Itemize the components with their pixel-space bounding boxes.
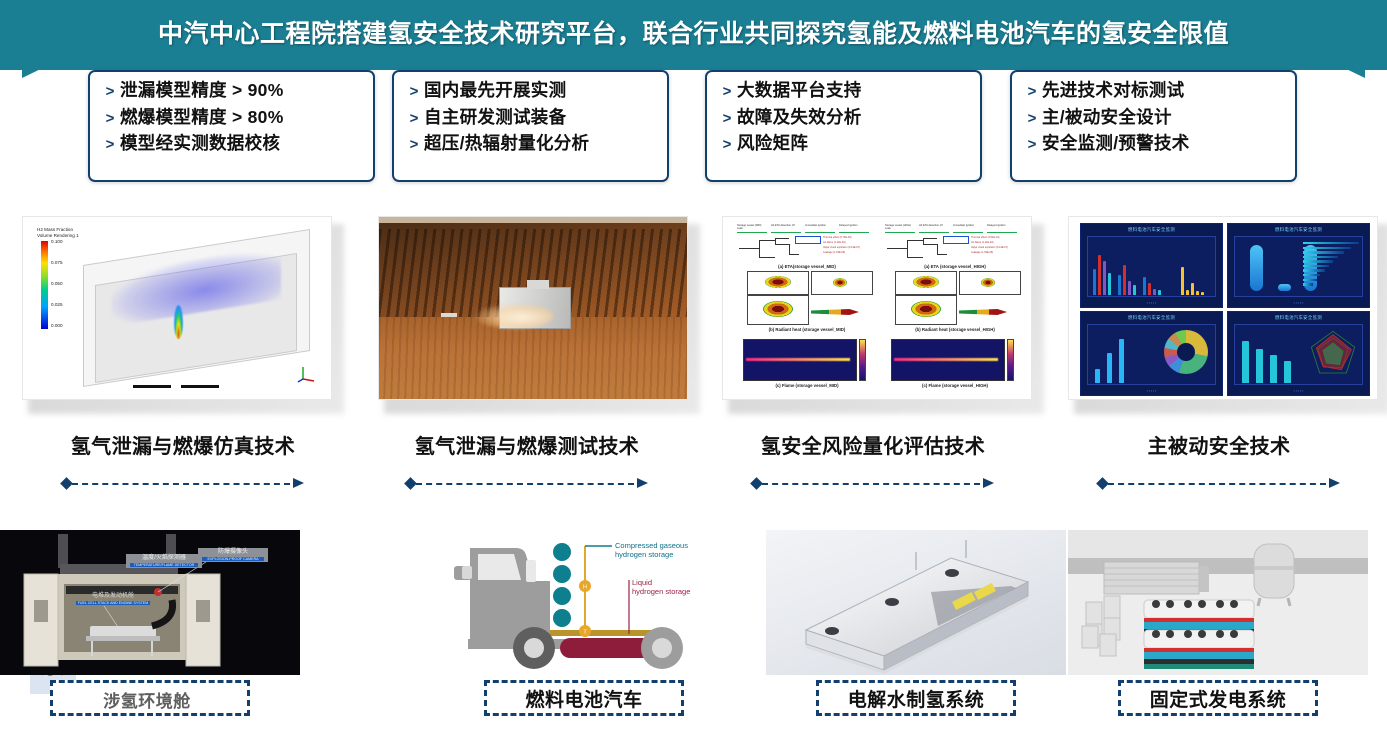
- bullet-label: 风险矩阵: [737, 134, 808, 154]
- annotation-flame-detector: 温度/火焰探测器TEMPERATURE/FLAME DETECTOR: [126, 554, 202, 568]
- eta-outcome: Vapor cloud explosion (6.14E-07): [823, 246, 860, 249]
- chevron-right-icon: >: [717, 137, 737, 152]
- enclosure-vent: [527, 280, 549, 289]
- bullet-label: 故障及失效分析: [737, 108, 862, 128]
- colorbar-tick: 0.000: [51, 323, 63, 328]
- dashboard-title: 燃料电池汽车安全监测: [1081, 315, 1222, 321]
- dashboard-title: 燃料电池汽车安全监测: [1081, 227, 1222, 233]
- scenario-label-ghost: 涉氢环境舱: [50, 684, 244, 714]
- bullet-label: 超压/热辐射量化分析: [424, 134, 589, 154]
- eta-col-header: Storage vessel (MID) Leak: [737, 225, 767, 233]
- scenario-label-stationary-power: 固定式发电系统: [1118, 680, 1318, 716]
- eta-outcome: Leakage (1.63E-06): [823, 251, 845, 254]
- heat-contour: [981, 278, 995, 287]
- eta-outcome: Jet flame (1.11E-04): [971, 241, 993, 244]
- eta-outcome: Leakage (1.63E-06): [971, 251, 993, 254]
- dashed-line: [72, 483, 290, 485]
- scenario-fuel-cell-vehicle[interactable]: H T Compressed gaseous hydrogen storage …: [434, 530, 734, 735]
- diamond-icon: [1096, 477, 1109, 490]
- eta-outcome: Thermal effect (6.72E-04): [823, 236, 851, 239]
- eta-col-header: Storage vessel (HIGH) Leak: [885, 225, 915, 233]
- arrow-head-icon: [293, 478, 304, 488]
- bullet-item: > 自主研发测试装备: [404, 108, 659, 128]
- safety-card[interactable]: > 先进技术对标测试 > 主/被动安全设计 > 安全监测/预警技术: [1010, 70, 1297, 182]
- risk-subcaption: (b) Radiant heat (storage vessel_HIGH): [883, 327, 1027, 332]
- colorbar-tick: 0.100: [51, 239, 63, 244]
- container-scene: [766, 530, 1066, 675]
- dashed-line: [762, 483, 980, 485]
- chevron-right-icon: >: [1022, 111, 1042, 126]
- heat-flux-colorbar: [959, 309, 1007, 315]
- diamond-icon: [750, 477, 763, 490]
- chevron-right-icon: >: [404, 111, 424, 126]
- dashboard-title: 燃料电池汽车安全监测: [1228, 315, 1369, 321]
- bullet-label: 国内最先开展实测: [424, 81, 566, 101]
- eta-outcome: Vapor cloud explosion (6.14E-07): [971, 246, 1008, 249]
- truck-svg: H T: [434, 530, 734, 675]
- bullet-label: 模型经实测数据校核: [120, 134, 280, 154]
- flame-jet: [746, 358, 850, 361]
- colorbar: [41, 241, 48, 329]
- heat-flux-colorbar: [811, 309, 859, 315]
- chevron-right-icon: >: [404, 137, 424, 152]
- colorbar-title-line1: H2 Mass Fraction: [37, 227, 79, 233]
- dashboard-panel: 燃料电池汽车安全监测 ▪ ▪ ▪ ▪ ▪: [1227, 223, 1370, 308]
- bullet-item: > 先进技术对标测试: [1022, 81, 1287, 101]
- application-scenarios: 应 用 场 景 H: [0, 530, 1387, 738]
- electrolysis-container-illustration: [766, 530, 1066, 675]
- hydrogen-jet: [174, 305, 183, 339]
- bullet-item: > 风险矩阵: [717, 134, 972, 154]
- dashed-arrow: [752, 478, 994, 490]
- annotation-explosion-proof-camera: 防爆摄像头 EXPLOSION-PROOF CAMERA: [198, 548, 268, 562]
- plant-svg: [1068, 530, 1368, 675]
- flame-plot-mid: [743, 339, 857, 381]
- bullet-item: > 国内最先开展实测: [404, 81, 659, 101]
- eta-outcome-box: [943, 236, 969, 244]
- bullet-item: > 模型经实测数据校核: [100, 134, 365, 154]
- chevron-right-icon: >: [100, 84, 120, 99]
- cfd-canvas: H2 Mass Fraction Volume Rendering 1 0.10…: [23, 217, 331, 399]
- plant-scene: [1068, 530, 1368, 675]
- dashboard-footer-tabs[interactable]: ▪ ▪ ▪ ▪ ▪: [1228, 389, 1369, 393]
- eta-col-header: Delayed ignition: [987, 225, 1017, 233]
- colorbar-title: H2 Mass Fraction Volume Rendering 1: [37, 227, 79, 238]
- eta-outcome-box: [795, 236, 821, 244]
- bullet-item: > 超压/热辐射量化分析: [404, 134, 659, 154]
- bar-group-secondary: [1181, 247, 1204, 295]
- bullet-label: 主/被动安全设计: [1042, 108, 1172, 128]
- tech-tile-simulation[interactable]: H2 Mass Fraction Volume Rendering 1 0.10…: [22, 216, 344, 410]
- bullet-item: > 主/被动安全设计: [1022, 108, 1287, 128]
- chevron-right-icon: >: [1022, 137, 1042, 152]
- tech-caption-testing: 氢气泄漏与燃爆测试技术: [366, 430, 688, 459]
- dashed-line: [416, 483, 634, 485]
- dashboard-footer-tabs[interactable]: ▪ ▪ ▪ ▪ ▪: [1228, 301, 1369, 305]
- event-tree-high: Storage vessel (HIGH) Leak H2 ETA detect…: [883, 225, 1027, 265]
- fuel-cell-truck-illustration: H T Compressed gaseous hydrogen storage …: [434, 530, 734, 675]
- dashboard-footer-tabs[interactable]: ▪ ▪ ▪ ▪ ▪: [1081, 301, 1222, 305]
- chevron-right-icon: >: [1022, 84, 1042, 99]
- scenario-label-hydrogen-chamber: 涉氢环境舱: [50, 680, 250, 716]
- risk-subcaption: (c) Flame (storage vessel_MID): [735, 383, 879, 388]
- colorbar-title-line2: Volume Rendering 1: [37, 233, 79, 239]
- heat-contour: [833, 278, 847, 287]
- eta-outcome: Jet flame (1.11E-04): [823, 241, 845, 244]
- bullet-label: 大数据平台支持: [737, 81, 862, 101]
- flame-jet: [894, 358, 998, 361]
- flame-colorbar: [859, 339, 866, 381]
- heat-contour: [913, 276, 939, 288]
- dashboard-panel: 燃料电池汽车安全监测 ▪ ▪ ▪ ▪ ▪: [1227, 311, 1370, 396]
- radiant-heat-high: [887, 269, 1023, 327]
- diamond-icon: [60, 477, 73, 490]
- heat-contour: [911, 301, 941, 317]
- bullet-item: > 燃爆模型精度 > 80%: [100, 108, 365, 128]
- donut-chart: [1164, 330, 1208, 374]
- container-svg: [766, 530, 1066, 675]
- chevron-right-icon: >: [404, 84, 424, 99]
- hydrogen-chamber-illustration: 温度/火焰探测器TEMPERATURE/FLAME DETECTOR 防爆摄像头…: [0, 530, 300, 675]
- svg-text:H: H: [583, 585, 587, 591]
- heat-contour: [763, 301, 793, 317]
- bullet-item: > 安全监测/预警技术: [1022, 134, 1287, 154]
- diamond-icon: [404, 477, 417, 490]
- flame-plot-high: [891, 339, 1005, 381]
- arrow-head-icon: [1329, 478, 1340, 488]
- eta-col-header: H2 ETA detection off: [771, 225, 801, 233]
- chevron-right-icon: >: [717, 84, 737, 99]
- flame-colorbar: [1007, 339, 1014, 381]
- explosion-test-photo: [378, 216, 688, 400]
- gauge-tube: [1250, 245, 1263, 291]
- eta-col-header: Delayed ignition: [839, 225, 869, 233]
- capability-cards: > 泄漏模型精度 > 90% > 燃爆模型精度 > 80% > 模型经实测数据校…: [0, 62, 1387, 192]
- ranking-list: [1303, 242, 1361, 288]
- monitoring-dashboard-image: 燃料电池汽车安全监测: [1068, 216, 1378, 400]
- eta-outcome: Thermal effect (4.51E-04): [971, 236, 999, 239]
- bullet-item: > 大数据平台支持: [717, 81, 972, 101]
- scenario-hydrogen-chamber[interactable]: 温度/火焰探测器TEMPERATURE/FLAME DETECTOR 防爆摄像头…: [0, 530, 300, 735]
- radar-chart: [1307, 328, 1359, 378]
- dashboard-title: 燃料电池汽车安全监测: [1228, 227, 1369, 233]
- bullet-label: 泄漏模型精度 > 90%: [120, 81, 284, 101]
- explosion-flash: [475, 303, 553, 329]
- bullet-label: 燃爆模型精度 > 80%: [120, 108, 284, 128]
- colorbar-tick: 0.050: [51, 281, 63, 286]
- scenario-electrolysis[interactable]: 电解水制氢系统: [766, 530, 1066, 735]
- dashed-line: [1108, 483, 1326, 485]
- debris: [441, 313, 457, 317]
- annotation-liquid-hydrogen: Liquid hydrogen storage: [632, 578, 690, 597]
- tech-caption-risk: 氢安全风险量化评估技术: [712, 430, 1034, 459]
- eta-col-header: H2 ETA detection off: [919, 225, 949, 233]
- bullet-label: 先进技术对标测试: [1042, 81, 1184, 101]
- colorbar-tick: 0.075: [51, 260, 63, 265]
- tech-caption-safety: 主被动安全技术: [1058, 430, 1380, 459]
- heat-contour: [765, 276, 791, 288]
- simulation-card[interactable]: > 泄漏模型精度 > 90% > 燃爆模型精度 > 80% > 模型经实测数据校…: [88, 70, 375, 182]
- scenario-stationary-power[interactable]: 固定式发电系统: [1068, 530, 1368, 735]
- dashed-arrow: [1098, 478, 1340, 490]
- scale-bar: [133, 384, 228, 389]
- dashboard-grid: 燃料电池汽车安全监测: [1069, 217, 1377, 399]
- bullet-label: 安全监测/预警技术: [1042, 134, 1190, 154]
- explosion-scene: [379, 217, 687, 399]
- risk-column-high: Storage vessel (HIGH) Leak H2 ETA detect…: [883, 223, 1027, 395]
- tech-tile-testing[interactable]: [378, 216, 700, 410]
- ground-texture: [379, 317, 687, 399]
- risk-sheet: Storage vessel (MID) Leak H2 ETA detecti…: [723, 217, 1031, 399]
- risk-assessment-figure: Storage vessel (MID) Leak H2 ETA detecti…: [722, 216, 1032, 400]
- scenario-label-fuel-cell-vehicle: 燃料电池汽车: [484, 680, 684, 716]
- dashed-arrow: [406, 478, 648, 490]
- chamber-scene: 温度/火焰探测器TEMPERATURE/FLAME DETECTOR 防爆摄像头…: [0, 530, 300, 675]
- dashed-arrow: [62, 478, 304, 490]
- arrow-head-icon: [983, 478, 994, 488]
- tech-tile-risk[interactable]: Storage vessel (MID) Leak H2 ETA detecti…: [722, 216, 1044, 410]
- technology-image-row: H2 Mass Fraction Volume Rendering 1 0.10…: [0, 216, 1387, 426]
- chevron-right-icon: >: [100, 111, 120, 126]
- tech-caption-simulation: 氢气泄漏与燃爆仿真技术: [22, 430, 344, 459]
- gauge-tube: [1278, 284, 1291, 291]
- bullet-item: > 故障及失效分析: [717, 108, 972, 128]
- technology-captions: 氢气泄漏与燃爆仿真技术 氢气泄漏与燃爆测试技术 氢安全风险量化评估技术 主被动安…: [0, 430, 1387, 500]
- annotation-compressed-gas: Compressed gaseous hydrogen storage: [615, 541, 688, 560]
- chevron-right-icon: >: [717, 111, 737, 126]
- bar-group: [1093, 247, 1161, 295]
- cfd-simulation-image: H2 Mass Fraction Volume Rendering 1 0.10…: [22, 216, 332, 400]
- eta-col-header: Immediate ignition: [953, 225, 983, 233]
- dashboard-panel: 燃料电池汽车安全监测: [1080, 223, 1223, 308]
- risk-column-mid: Storage vessel (MID) Leak H2 ETA detecti…: [735, 223, 879, 395]
- radiant-heat-mid: [739, 269, 875, 327]
- chevron-right-icon: >: [100, 137, 120, 152]
- scenario-label-electrolysis: 电解水制氢系统: [816, 680, 1016, 716]
- tech-tile-monitoring[interactable]: 燃料电池汽车安全监测: [1068, 216, 1387, 410]
- bullet-item: > 泄漏模型精度 > 90%: [100, 81, 365, 101]
- risk-card[interactable]: > 大数据平台支持 > 故障及失效分析 > 风险矩阵: [705, 70, 982, 182]
- stationary-power-illustration: [1068, 530, 1368, 675]
- arrow-head-icon: [637, 478, 648, 488]
- bullet-label: 自主研发测试装备: [424, 108, 566, 128]
- annotation-fuel-cell-stack: 电堆及发动机舱 FUEL CELL STACK AND ENGINE SYSTE…: [72, 592, 154, 606]
- axis-triad-icon: [297, 363, 317, 383]
- bar-group: [1242, 335, 1291, 383]
- risk-subcaption: (b) Radiant heat (storage vessel_MID): [735, 327, 879, 332]
- dashboard-panel: 燃料电池汽车安全监测 ▪ ▪ ▪ ▪ ▪: [1080, 311, 1223, 396]
- page-title: 中汽中心工程院搭建氢安全技术研究平台，联合行业共同探究氢能及燃料电池汽车的氢安全…: [0, 14, 1387, 50]
- testing-card[interactable]: > 国内最先开展实测 > 自主研发测试装备 > 超压/热辐射量化分析: [392, 70, 669, 182]
- bar-group: [1095, 335, 1124, 383]
- risk-subcaption: (c) Flame (storage vessel_HIGH): [883, 383, 1027, 388]
- event-tree-mid: Storage vessel (MID) Leak H2 ETA detecti…: [735, 225, 879, 265]
- dashboard-footer-tabs[interactable]: ▪ ▪ ▪ ▪ ▪: [1081, 389, 1222, 393]
- eta-col-header: Immediate ignition: [805, 225, 835, 233]
- colorbar-tick: 0.025: [51, 302, 63, 307]
